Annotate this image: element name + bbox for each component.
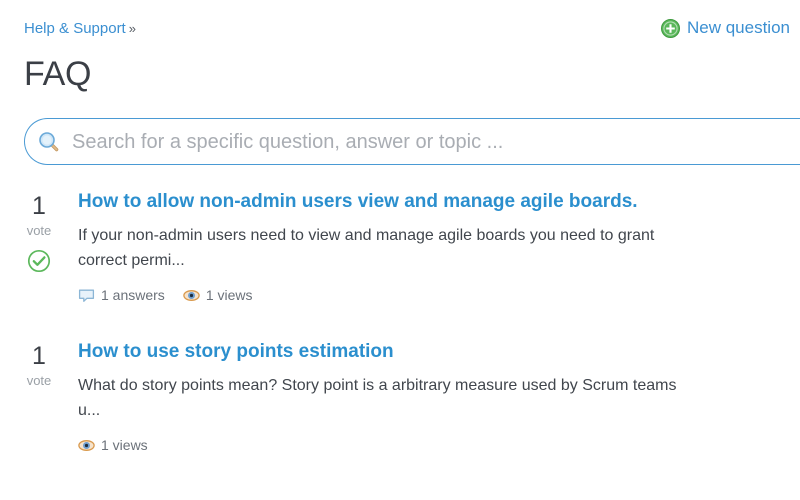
eye-icon: [183, 287, 200, 304]
search-icon: [38, 131, 60, 153]
breadcrumb-separator-icon: »: [129, 21, 136, 36]
question-item: 1 vote How to use story points estimatio…: [0, 340, 800, 490]
page-title: FAQ: [24, 54, 91, 94]
question-item: 1 vote How to allow non-admin users view…: [0, 190, 800, 340]
comment-icon: [78, 287, 95, 304]
faq-page: Help & Support» New question FAQ: [0, 0, 800, 500]
question-list: 1 vote How to allow non-admin users view…: [0, 190, 800, 490]
new-question-label: New question: [687, 16, 790, 40]
vote-column: 1 vote: [0, 190, 78, 273]
eye-icon: [78, 437, 95, 454]
vote-count: 1: [0, 192, 78, 220]
question-title-link[interactable]: How to allow non-admin users view and ma…: [78, 190, 800, 214]
search-bar[interactable]: [24, 118, 800, 165]
answers-count: 1 answers: [101, 286, 165, 304]
answers-stat: 1 answers: [78, 286, 165, 304]
question-stats: 1 answers 1 views: [78, 286, 800, 304]
views-count: 1 views: [101, 436, 148, 454]
vote-label: vote: [0, 221, 78, 241]
question-body: How to allow non-admin users view and ma…: [78, 190, 800, 304]
views-stat: 1 views: [78, 436, 148, 454]
page-header: Help & Support» New question: [0, 18, 800, 44]
vote-label: vote: [0, 371, 78, 391]
check-circle-icon: [27, 249, 51, 273]
question-excerpt: What do story points mean? Story point i…: [78, 373, 800, 423]
plus-circle-icon: [661, 19, 680, 38]
question-title-link[interactable]: How to use story points estimation: [78, 340, 800, 364]
new-question-button[interactable]: New question: [661, 16, 790, 40]
breadcrumb: Help & Support»: [24, 18, 136, 40]
question-stats: 1 views: [78, 436, 800, 454]
search-input[interactable]: [72, 127, 800, 157]
views-stat: 1 views: [183, 286, 253, 304]
question-body: How to use story points estimation What …: [78, 340, 800, 454]
vote-count: 1: [0, 342, 78, 370]
breadcrumb-link-help-support[interactable]: Help & Support: [24, 20, 126, 37]
question-excerpt: If your non-admin users need to view and…: [78, 223, 800, 273]
views-count: 1 views: [206, 286, 253, 304]
vote-column: 1 vote: [0, 340, 78, 391]
